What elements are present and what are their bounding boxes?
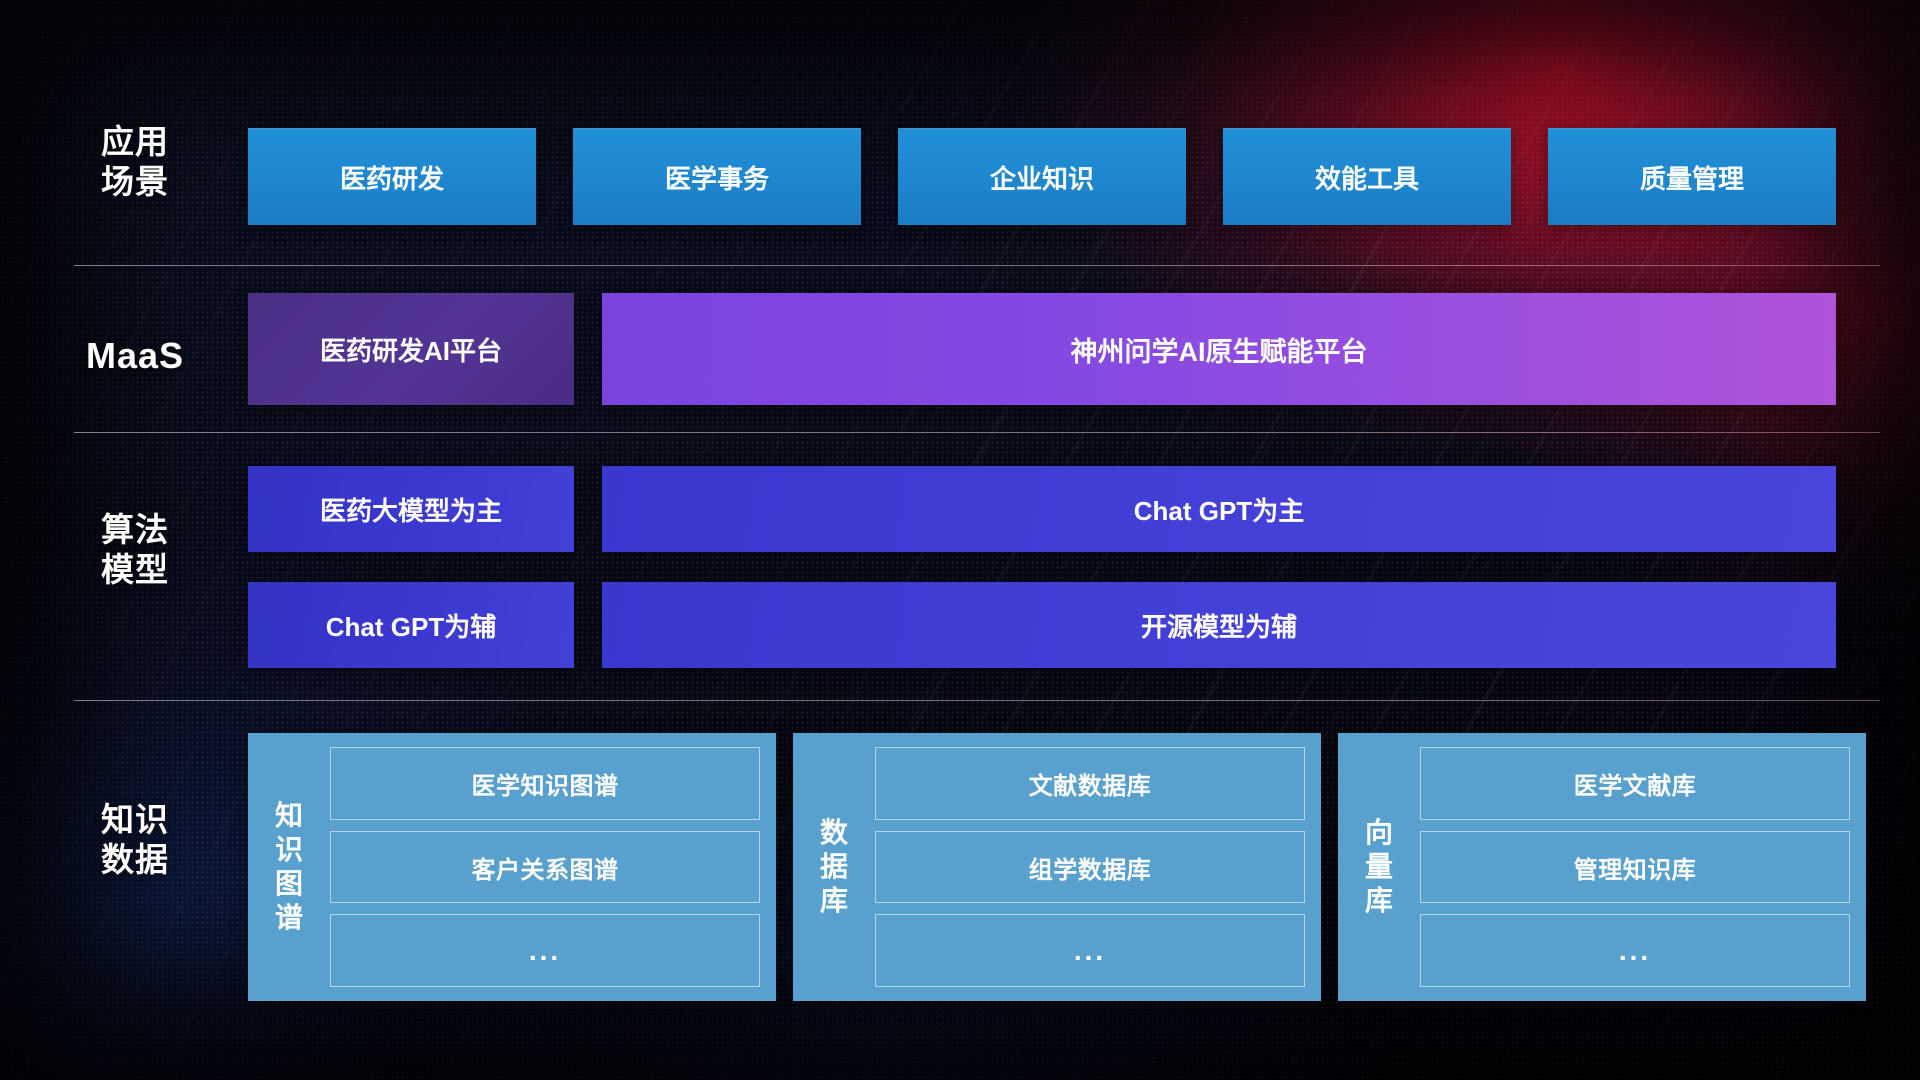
knowledge-panel-vector-items: 医学文献库 管理知识库 ...	[1420, 747, 1850, 987]
db-char-2: 据	[820, 850, 848, 884]
knowledge-item-database-more-label: ...	[1074, 935, 1106, 967]
app-card-5[interactable]: 质量管理	[1548, 128, 1836, 225]
algo-card-chatgpt-primary[interactable]: Chat GPT为主	[602, 466, 1836, 552]
kg-char-1: 知	[275, 799, 303, 833]
knowledge-item-database-more[interactable]: ...	[875, 914, 1305, 987]
row-label-maas-line1: MaaS	[74, 336, 196, 376]
app-card-4-label: 效能工具	[1315, 159, 1419, 196]
slide-canvas: 应用 场景 医药研发 医学事务 企业知识 效能工具 质量管理 MaaS 医药研发…	[0, 0, 1920, 1080]
knowledge-item-medical-literature[interactable]: 医学文献库	[1420, 747, 1850, 820]
diagram-content: 应用 场景 医药研发 医学事务 企业知识 效能工具 质量管理 MaaS 医药研发…	[0, 0, 1920, 1080]
algo-card-chatgpt-primary-label: Chat GPT为主	[1134, 491, 1304, 528]
app-card-5-label: 质量管理	[1640, 159, 1744, 196]
knowledge-panel-graph[interactable]: 知 识 图 谱 医学知识图谱 客户关系图谱 ...	[248, 733, 776, 1001]
maas-card-medical-ai-platform[interactable]: 医药研发AI平台	[248, 293, 574, 405]
app-card-3-label: 企业知识	[990, 159, 1094, 196]
maas-card-shenzhou-platform-label: 神州问学AI原生赋能平台	[1071, 330, 1368, 369]
vec-char-2: 量	[1365, 850, 1393, 884]
vec-char-1: 向	[1365, 816, 1393, 850]
kg-char-3: 图	[275, 867, 303, 901]
divider-algorithm-knowledge	[74, 700, 1880, 701]
kg-char-4: 谱	[275, 901, 303, 935]
row-label-application-line2: 场景	[74, 162, 196, 202]
row-label-maas: MaaS	[74, 336, 196, 376]
maas-card-medical-ai-platform-label: 医药研发AI平台	[320, 331, 502, 368]
app-card-2-label: 医学事务	[665, 159, 769, 196]
db-char-3: 库	[820, 884, 848, 918]
app-card-1-label: 医药研发	[340, 159, 444, 196]
divider-maas-algorithm	[74, 432, 1880, 433]
algo-card-opensource-secondary[interactable]: 开源模型为辅	[602, 582, 1836, 668]
divider-application-maas	[74, 265, 1880, 266]
algo-card-medical-model-primary[interactable]: 医药大模型为主	[248, 466, 574, 552]
app-card-2[interactable]: 医学事务	[573, 128, 861, 225]
knowledge-item-customer-graph-label: 客户关系图谱	[472, 850, 619, 885]
kg-char-2: 识	[275, 833, 303, 867]
knowledge-item-omics-db[interactable]: 组学数据库	[875, 831, 1305, 904]
knowledge-item-omics-db-label: 组学数据库	[1029, 850, 1152, 885]
knowledge-item-medical-literature-label: 医学文献库	[1574, 766, 1697, 801]
vec-char-3: 库	[1365, 884, 1393, 918]
knowledge-item-literature-db-label: 文献数据库	[1029, 766, 1152, 801]
algo-card-medical-model-primary-label: 医药大模型为主	[320, 491, 502, 528]
row-label-algorithm: 算法 模型	[74, 510, 196, 590]
algo-card-chatgpt-secondary[interactable]: Chat GPT为辅	[248, 582, 574, 668]
knowledge-panel-database-vertical-label: 数 据 库	[807, 747, 861, 987]
knowledge-panel-vector-vertical-label: 向 量 库	[1352, 747, 1406, 987]
knowledge-item-medical-graph[interactable]: 医学知识图谱	[330, 747, 760, 820]
knowledge-item-management-knowledge[interactable]: 管理知识库	[1420, 831, 1850, 904]
maas-card-shenzhou-platform[interactable]: 神州问学AI原生赋能平台	[602, 293, 1836, 405]
knowledge-item-vector-more-label: ...	[1619, 935, 1651, 967]
knowledge-item-literature-db[interactable]: 文献数据库	[875, 747, 1305, 820]
knowledge-panel-database[interactable]: 数 据 库 文献数据库 组学数据库 ...	[793, 733, 1321, 1001]
algo-card-chatgpt-secondary-label: Chat GPT为辅	[326, 607, 496, 644]
row-label-algorithm-line1: 算法	[74, 510, 196, 550]
app-card-1[interactable]: 医药研发	[248, 128, 536, 225]
knowledge-panel-graph-vertical-label: 知 识 图 谱	[262, 747, 316, 987]
row-label-application-line1: 应用	[74, 122, 196, 162]
knowledge-item-management-knowledge-label: 管理知识库	[1574, 850, 1697, 885]
db-char-1: 数	[820, 816, 848, 850]
knowledge-item-customer-graph[interactable]: 客户关系图谱	[330, 831, 760, 904]
row-label-application: 应用 场景	[74, 122, 196, 202]
knowledge-panel-graph-items: 医学知识图谱 客户关系图谱 ...	[330, 747, 760, 987]
knowledge-panel-database-items: 文献数据库 组学数据库 ...	[875, 747, 1305, 987]
row-label-algorithm-line2: 模型	[74, 550, 196, 590]
knowledge-item-medical-graph-label: 医学知识图谱	[472, 766, 619, 801]
app-card-3[interactable]: 企业知识	[898, 128, 1186, 225]
row-label-knowledge: 知识 数据	[74, 800, 196, 880]
knowledge-item-vector-more[interactable]: ...	[1420, 914, 1850, 987]
knowledge-panel-vector[interactable]: 向 量 库 医学文献库 管理知识库 ...	[1338, 733, 1866, 1001]
knowledge-item-graph-more[interactable]: ...	[330, 914, 760, 987]
row-label-knowledge-line1: 知识	[74, 800, 196, 840]
algo-card-opensource-secondary-label: 开源模型为辅	[1141, 607, 1297, 644]
app-card-4[interactable]: 效能工具	[1223, 128, 1511, 225]
knowledge-item-graph-more-label: ...	[529, 935, 561, 967]
row-label-knowledge-line2: 数据	[74, 840, 196, 880]
